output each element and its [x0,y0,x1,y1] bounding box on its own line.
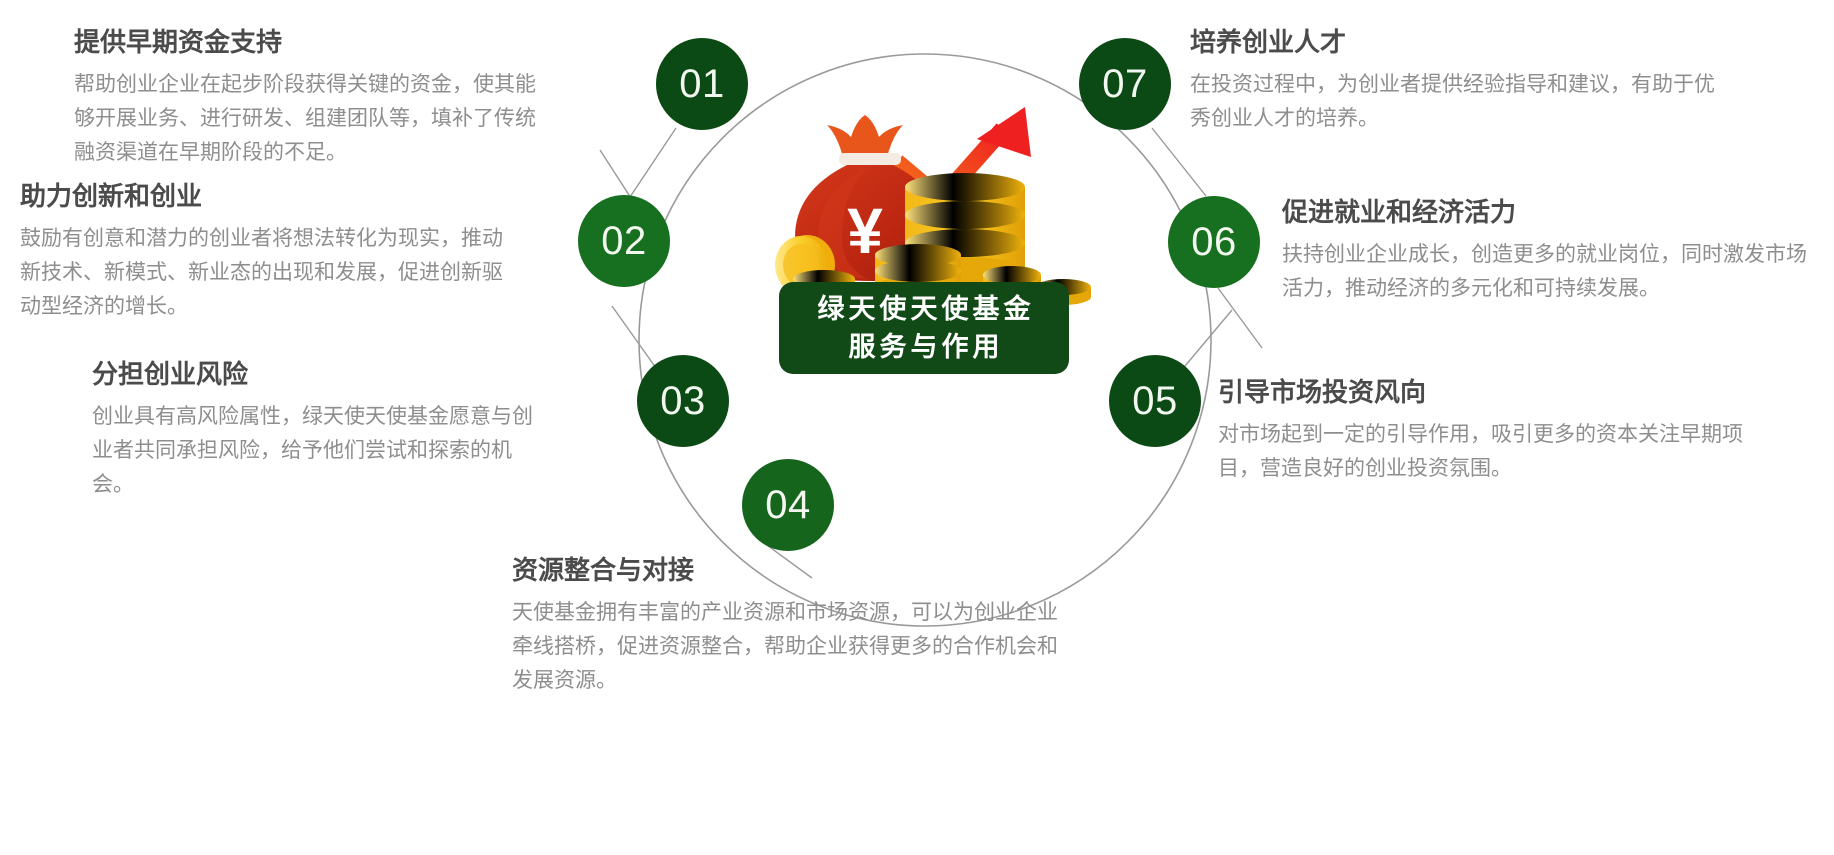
item-desc-04: 天使基金拥有丰富的产业资源和市场资源，可以为创业企业牵线搭桥，促进资源整合，帮助… [512,596,1072,698]
center-label-line-2: 服务与作用 [845,328,1004,366]
item-title-07: 培养创业人才 [1190,26,1730,59]
step-node-04-label: 04 [765,485,811,525]
item-title-02: 助力创新和创业 [20,180,520,213]
item-desc-06: 扶持创业企业成长，创造更多的就业岗位，同时激发市场活力，推动经济的多元化和可持续… [1282,238,1822,306]
item-desc-03: 创业具有高风险属性，绿天使天使基金愿意与创业者共同承担风险，给予他们尝试和探索的… [92,400,537,502]
item-desc-05: 对市场起到一定的引导作用，吸引更多的资本关注早期项目，营造良好的创业投资氛围。 [1218,418,1778,486]
item-title-03: 分担创业风险 [92,358,537,391]
step-node-05-label: 05 [1132,381,1178,421]
step-node-06-label: 06 [1191,222,1237,262]
item-desc-07: 在投资过程中，为创业者提供经验指导和建议，有助于优秀创业人才的培养。 [1190,68,1730,136]
item-title-06: 促进就业和经济活力 [1282,196,1822,229]
item-block-07: 培养创业人才 在投资过程中，为创业者提供经验指导和建议，有助于优秀创业人才的培养… [1190,26,1730,136]
item-desc-01: 帮助创业企业在起步阶段获得关键的资金，使其能够开展业务、进行研发、组建团队等，填… [74,68,552,170]
item-title-04: 资源整合与对接 [512,554,1072,587]
step-node-03[interactable]: 03 [637,355,729,447]
money-growth-illustration: ¥ [735,95,1115,310]
center-label-plate: 绿天使天使基金 服务与作用 [779,282,1069,374]
step-node-01-label: 01 [679,64,725,104]
infographic-canvas: 01 02 03 04 05 06 07 提供早期资金支持 帮助创业企业在起步阶… [0,0,1834,855]
connector-line-05 [1180,310,1232,372]
step-node-03-label: 03 [660,381,706,421]
connector-line-01 [628,128,676,200]
item-title-05: 引导市场投资风向 [1218,376,1778,409]
item-title-01: 提供早期资金支持 [74,26,552,59]
item-block-01: 提供早期资金支持 帮助创业企业在起步阶段获得关键的资金，使其能够开展业务、进行研… [74,26,552,170]
center-label-line-1: 绿天使天使基金 [814,290,1035,328]
item-block-05: 引导市场投资风向 对市场起到一定的引导作用，吸引更多的资本关注早期项目，营造良好… [1218,376,1778,486]
step-node-05[interactable]: 05 [1109,355,1201,447]
connector-line-03 [612,306,656,368]
item-block-02: 助力创新和创业 鼓励有创意和潜力的创业者将想法转化为现实，推动新技术、新模式、新… [20,180,520,324]
connector-line-07 [1152,128,1206,196]
step-node-06[interactable]: 06 [1168,196,1260,288]
item-desc-02: 鼓励有创意和潜力的创业者将想法转化为现实，推动新技术、新模式、新业态的出现和发展… [20,222,520,324]
step-node-02[interactable]: 02 [578,195,670,287]
item-block-06: 促进就业和经济活力 扶持创业企业成长，创造更多的就业岗位，同时激发市场活力，推动… [1282,196,1822,306]
connector-line-06 [1218,288,1262,348]
item-block-04: 资源整合与对接 天使基金拥有丰富的产业资源和市场资源，可以为创业企业牵线搭桥，促… [512,554,1072,698]
step-node-02-label: 02 [601,221,647,261]
step-node-04[interactable]: 04 [742,459,834,551]
item-block-03: 分担创业风险 创业具有高风险属性，绿天使天使基金愿意与创业者共同承担风险，给予他… [92,358,537,502]
